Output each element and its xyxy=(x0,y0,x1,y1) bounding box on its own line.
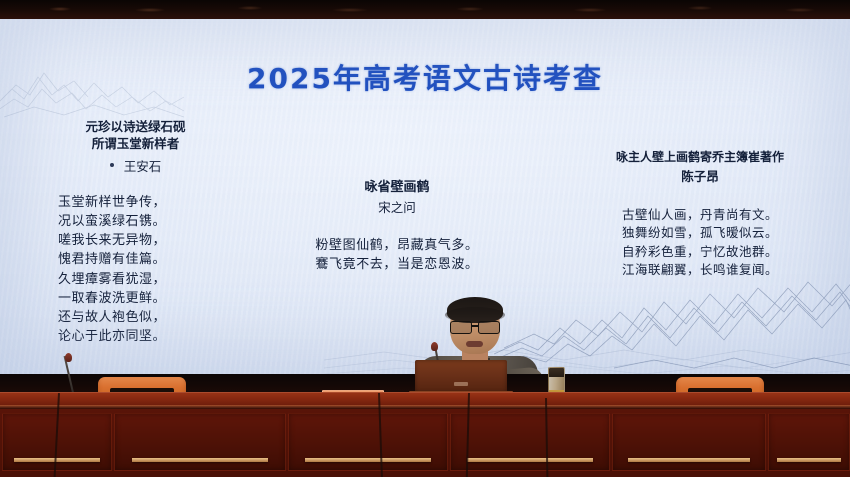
desk-panel xyxy=(114,413,286,471)
desk-surface xyxy=(0,392,850,406)
desk-panel xyxy=(768,413,850,471)
glasses-lens-right xyxy=(478,321,500,334)
laptop-screen-lid xyxy=(415,360,507,393)
desk-panel xyxy=(612,413,766,471)
desk-panel xyxy=(450,413,610,471)
glasses-lens-left xyxy=(450,321,472,334)
microphone-center-head xyxy=(431,342,438,351)
laptop-logo xyxy=(454,382,468,386)
glasses-icon xyxy=(449,321,501,332)
screenshot-root: 2025年高考语文古诗考查 元珍以诗送绿石砚 所谓玉堂新样者 王安石 玉堂新样世… xyxy=(0,0,850,477)
presenter-hair xyxy=(447,297,503,323)
desk-front-panels xyxy=(0,409,850,469)
ceiling-band xyxy=(0,0,850,19)
microphone-left-stem xyxy=(64,356,75,397)
presenter-mouth xyxy=(466,341,483,347)
desk-panel xyxy=(288,413,448,471)
microphone-left xyxy=(64,355,82,397)
ceiling-lights xyxy=(0,3,850,15)
microphone-left-head xyxy=(65,353,72,362)
podium-desk xyxy=(0,392,850,477)
thermos-cap xyxy=(549,368,564,377)
